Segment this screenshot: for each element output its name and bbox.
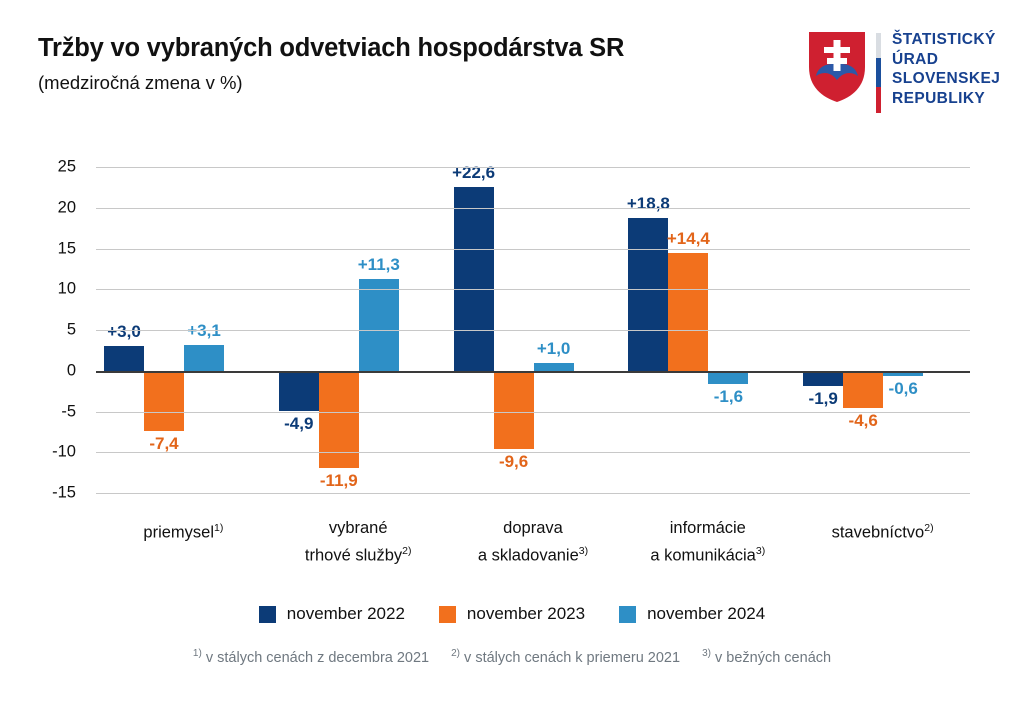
- legend-label: november 2024: [647, 604, 765, 624]
- x-axis-category-labels: priemysel1)vybranétrhové služby2)doprava…: [96, 517, 970, 577]
- chart-header: Tržby vo vybraných odvetviach hospodárst…: [0, 0, 1024, 135]
- bar-value-label: -0,6: [858, 379, 948, 399]
- bar[interactable]: [144, 371, 184, 431]
- logo-divider: [876, 33, 881, 113]
- category-label: stavebníctvo2): [778, 517, 988, 545]
- bar-value-label: +1,0: [509, 339, 599, 359]
- bar[interactable]: [494, 371, 534, 449]
- page-subtitle: (medziročná zmena v %): [38, 72, 243, 94]
- logo-text: ŠTATISTICKÝ ÚRAD SLOVENSKEJ REPUBLIKY: [892, 30, 1000, 108]
- zero-axis-line: [96, 371, 970, 373]
- bar-value-label: +18,8: [603, 194, 693, 214]
- legend-label: november 2022: [287, 604, 405, 624]
- bar-value-label: +14,4: [643, 229, 733, 249]
- bar-value-label: -9,6: [469, 452, 559, 472]
- gridline: [96, 493, 970, 494]
- legend-item[interactable]: november 2022: [259, 604, 405, 624]
- gridline: [96, 167, 970, 168]
- bar-value-label: -7,4: [119, 434, 209, 454]
- bar-value-label: -1,6: [683, 387, 773, 407]
- bar-value-label: +11,3: [334, 255, 424, 275]
- y-axis-tick: 0: [67, 361, 76, 380]
- page-title: Tržby vo vybraných odvetviach hospodárst…: [38, 34, 624, 63]
- legend-swatch-icon: [439, 606, 456, 623]
- bar[interactable]: [454, 187, 494, 371]
- y-axis-tick: -5: [61, 402, 76, 421]
- y-axis-tick: 15: [58, 239, 76, 258]
- bar[interactable]: [534, 363, 574, 371]
- logo-line-2: ÚRAD: [892, 50, 1000, 70]
- legend-label: november 2023: [467, 604, 585, 624]
- slovak-coat-of-arms-icon: [808, 31, 866, 103]
- chart-footnotes: 1) v stálych cenách z decembra 20212) v …: [0, 648, 1024, 666]
- chart-legend: november 2022november 2023november 2024: [0, 604, 1024, 624]
- legend-swatch-icon: [619, 606, 636, 623]
- bar[interactable]: [184, 345, 224, 370]
- y-axis-tick-labels: 2520151050-5-10-15: [0, 167, 88, 493]
- bar[interactable]: [104, 346, 144, 370]
- gridline: [96, 289, 970, 290]
- bar-value-label: +3,1: [159, 321, 249, 341]
- y-axis-tick: 5: [67, 321, 76, 340]
- legend-swatch-icon: [259, 606, 276, 623]
- bar-value-label: -11,9: [294, 471, 384, 491]
- footnote: 1) v stálych cenách z decembra 2021: [193, 648, 429, 666]
- gridline: [96, 208, 970, 209]
- statistical-office-logo: ŠTATISTICKÝ ÚRAD SLOVENSKEJ REPUBLIKY: [808, 28, 1008, 123]
- y-axis-tick: -10: [52, 443, 76, 462]
- footnote: 3) v bežných cenách: [702, 648, 831, 666]
- y-axis-tick: 10: [58, 280, 76, 299]
- category-label-line: stavebníctvo2): [778, 517, 988, 545]
- bar-value-label: +3,0: [79, 322, 169, 342]
- gridline: [96, 249, 970, 250]
- y-axis-tick: 20: [58, 198, 76, 217]
- bar[interactable]: [803, 371, 843, 386]
- logo-line-3: SLOVENSKEJ: [892, 69, 1000, 89]
- logo-line-1: ŠTATISTICKÝ: [892, 30, 1000, 50]
- legend-item[interactable]: november 2024: [619, 604, 765, 624]
- gridline: [96, 412, 970, 413]
- gridline: [96, 330, 970, 331]
- bar-chart: 2520151050-5-10-15 +3,0-7,4+3,1-4,9-11,9…: [0, 135, 1024, 555]
- gridline: [96, 452, 970, 453]
- bar-value-label: +22,6: [429, 163, 519, 183]
- footnote: 2) v stálych cenách k priemeru 2021: [451, 648, 680, 666]
- y-axis-tick: -15: [52, 484, 76, 503]
- bar[interactable]: [359, 279, 399, 371]
- bar-value-label: -4,6: [818, 411, 908, 431]
- bar[interactable]: [279, 371, 319, 411]
- y-axis-tick: 25: [58, 158, 76, 177]
- plot-area: +3,0-7,4+3,1-4,9-11,9+11,3+22,6-9,6+1,0+…: [96, 167, 970, 493]
- logo-line-4: REPUBLIKY: [892, 89, 1000, 109]
- legend-item[interactable]: november 2023: [439, 604, 585, 624]
- bar[interactable]: [668, 253, 708, 370]
